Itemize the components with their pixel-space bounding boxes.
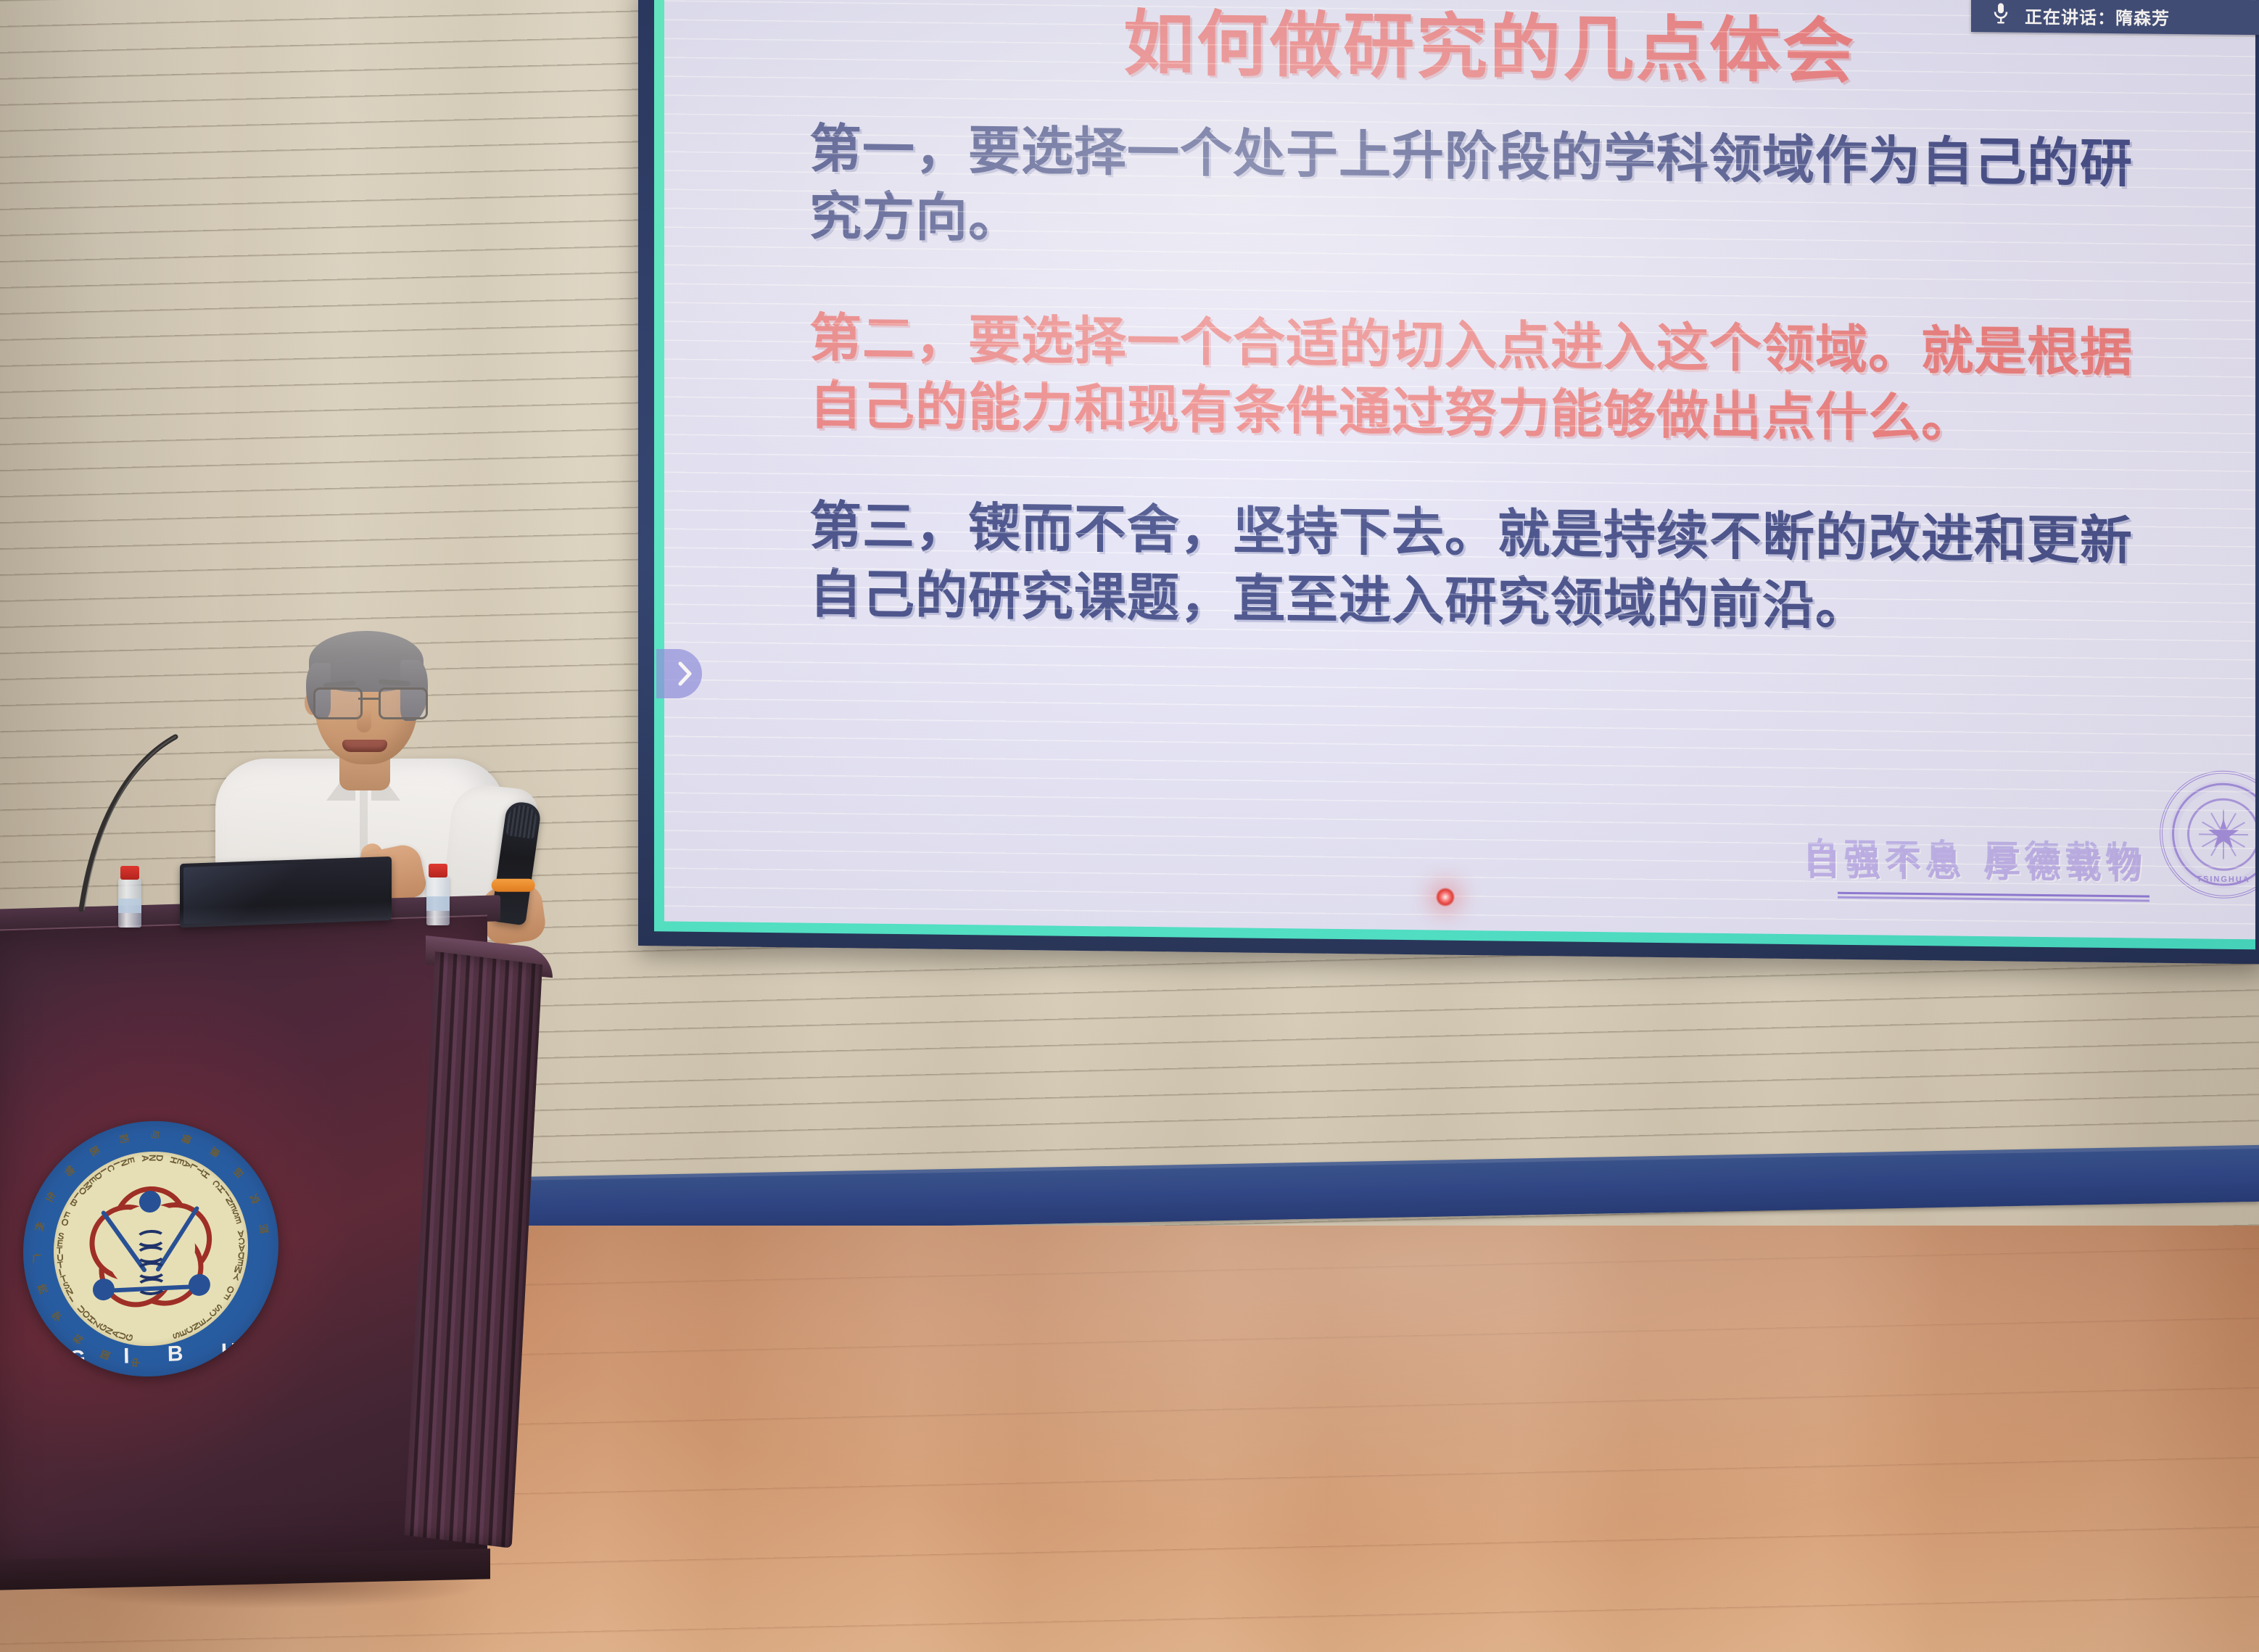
gibh-ring-letter: S: [170, 1331, 183, 1340]
screen-accent-border: 如何做研究的几点体会 第一，要选择一个处于上升阶段的学科领域作为自己的研究方向。…: [654, 0, 2255, 949]
gibh-english-ring: GUANGZHOU INSTITUTES OF BIOMEDICINE AND …: [21, 1115, 281, 1382]
microphone-icon: [1993, 2, 2009, 28]
slide-paragraph-1: 第一，要选择一个处于上升阶段的学科领域作为自己的研究方向。: [809, 115, 2170, 265]
laptop-computer: [180, 856, 392, 928]
slide-paragraph-2: 第二，要选择一个合适的切入点进入这个领域。就是根据自己的能力和现有条件通过努力能…: [809, 304, 2170, 455]
gibh-ring-letter: H: [199, 1169, 212, 1181]
lectern: 中国科学院广州生物医药与健康研究院: [0, 904, 538, 1600]
slide-title: 如何做研究的几点体会: [809, 0, 2170, 99]
speaking-indicator: 正在讲话：隋森芳: [1971, 0, 2259, 35]
chevron-right-icon: [677, 661, 693, 686]
eyeglass-lens-right: [379, 687, 428, 719]
eyeglass-lens-left: [313, 687, 363, 719]
presenter-nose: [357, 709, 371, 732]
laptop-screen: [183, 860, 388, 924]
microphone-orange-band: [492, 879, 535, 892]
gibh-ring-letter: E: [125, 1156, 137, 1165]
speaking-label: 正在讲话：隋森芳: [2025, 2, 2170, 29]
water-bottle: [426, 876, 450, 925]
bottle-cap: [429, 864, 447, 877]
projection-screen-frame: 如何做研究的几点体会 第一，要选择一个处于上升阶段的学科领域作为自己的研究方向。…: [638, 0, 2259, 964]
tsinghua-seal-icon: TSINGHUA: [2160, 770, 2255, 899]
presenter-mouth: [342, 740, 387, 752]
gibh-ring-letter: S: [57, 1231, 65, 1242]
gibh-emblem: 中国科学院广州生物医药与健康研究院: [21, 1115, 281, 1382]
laser-pointer-dot: [1436, 888, 1455, 906]
gibh-ring-letter: E: [234, 1214, 243, 1226]
gibh-ring-letter: F: [62, 1209, 72, 1221]
microphone-mesh-head: [505, 804, 539, 839]
university-motto: 自强不息 厚德载物: [1805, 834, 2148, 888]
seal-caption: TSINGHUA: [2163, 875, 2255, 885]
gooseneck-microphone: [44, 732, 181, 914]
gibh-ring-letter: F: [222, 1290, 233, 1302]
slide-footer: 自强不息 厚德载物 TSINGHUA: [1805, 766, 2248, 899]
bottle-label: [426, 896, 450, 911]
motto-block: 自强不息 厚德载物: [1805, 834, 2148, 897]
slide-paragraph-3: 第三，锲而不舍，坚持下去。就是持续不断的改进和更新自己的研究课题，直至进入研究领…: [809, 492, 2170, 643]
lecture-hall-scene: 如何做研究的几点体会 第一，要选择一个处于上升阶段的学科领域作为自己的研究方向。…: [0, 0, 2259, 1652]
projected-slide: 如何做研究的几点体会 第一，要选择一个处于上升阶段的学科领域作为自己的研究方向。…: [664, 0, 2255, 939]
eyeglass-bridge: [358, 698, 379, 700]
gibh-ring-letter: D: [154, 1155, 165, 1162]
